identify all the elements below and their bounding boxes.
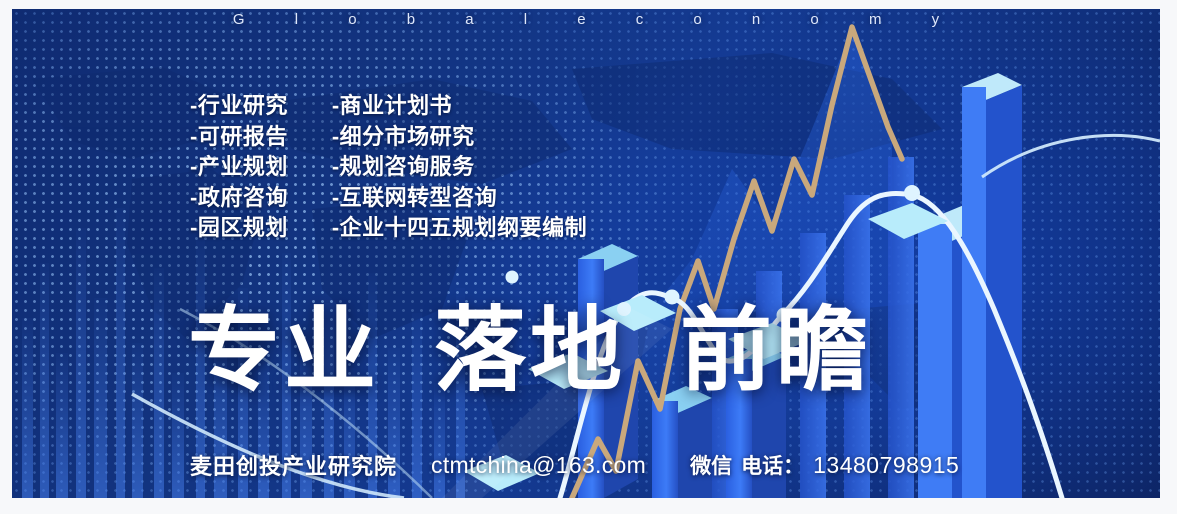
headline-word-2: 落地	[434, 305, 626, 397]
contact-row: 麦田创投产业研究院 ctmtchina@163.com 微信 电话： 13480…	[190, 449, 959, 481]
service-item: -行业研究	[190, 91, 288, 122]
service-item: -规划咨询服务	[332, 152, 587, 183]
phone-label: 电话：	[741, 450, 804, 480]
wordmark-global-economy: G l o b a l e c o n o m y	[12, 11, 1160, 28]
phone-number[interactable]: 13480798915	[813, 452, 959, 479]
marketing-banner: G l o b a l e c o n o m y -行业研究 -可研报告 -产…	[12, 9, 1160, 498]
phone-block: 微信 电话： 13480798915	[690, 450, 959, 480]
service-item: -园区规划	[190, 213, 288, 244]
wechat-label: 微信	[690, 450, 732, 480]
email-address[interactable]: ctmtchina@163.com	[431, 452, 646, 479]
service-item: -细分市场研究	[332, 122, 587, 153]
service-item: -政府咨询	[190, 183, 288, 214]
service-column-left: -行业研究 -可研报告 -产业规划 -政府咨询 -园区规划	[190, 91, 288, 244]
page-title: 专业 落地 前瞻	[188, 305, 872, 397]
service-item: -产业规划	[190, 152, 288, 183]
headline-word-1: 专业	[188, 305, 380, 397]
banner-frame: G l o b a l e c o n o m y -行业研究 -可研报告 -产…	[0, 0, 1177, 514]
organization-name: 麦田创投产业研究院	[190, 449, 397, 481]
service-column-right: -商业计划书 -细分市场研究 -规划咨询服务 -互联网转型咨询 -企业十四五规划…	[332, 91, 587, 244]
service-item: -企业十四五规划纲要编制	[332, 213, 587, 244]
service-lists: -行业研究 -可研报告 -产业规划 -政府咨询 -园区规划 -商业计划书 -细分…	[190, 91, 587, 244]
service-item: -可研报告	[190, 122, 288, 153]
service-item: -商业计划书	[332, 91, 587, 122]
headline-word-3: 前瞻	[680, 305, 872, 397]
service-item: -互联网转型咨询	[332, 183, 587, 214]
